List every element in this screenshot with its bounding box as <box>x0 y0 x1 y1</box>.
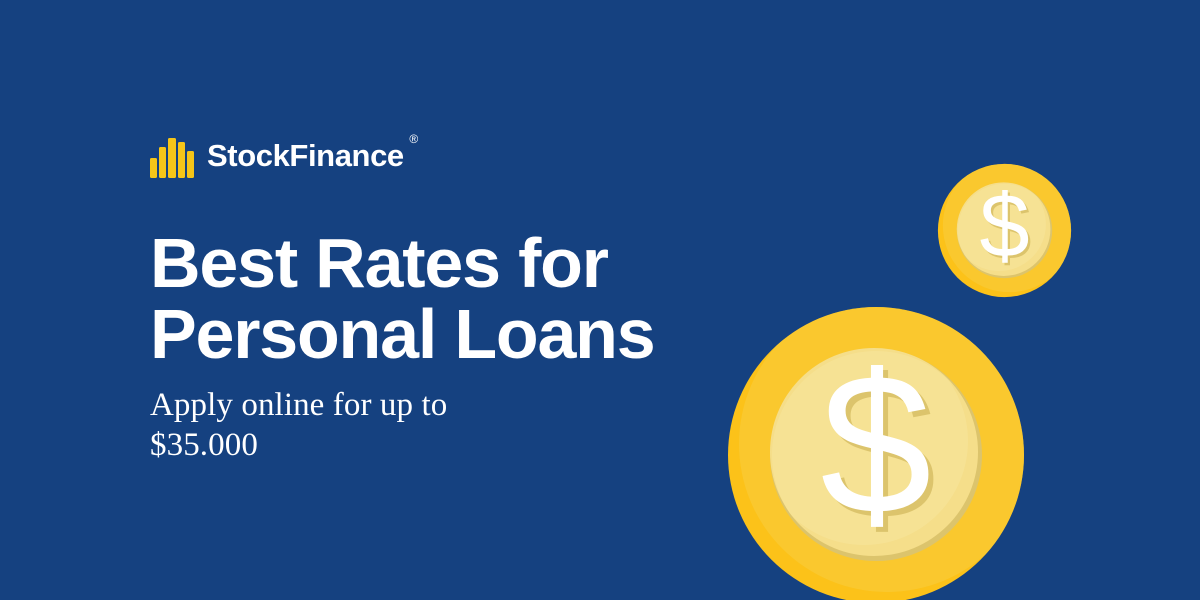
bar-chart-icon <box>150 130 196 178</box>
promo-banner: StockFinance ® Best Rates for Personal L… <box>0 0 1200 600</box>
brand-name-text: StockFinance <box>207 138 404 173</box>
dollar-sign: $ <box>820 333 931 556</box>
registered-trademark-icon: ® <box>409 133 417 145</box>
dollar-coin-icon-small: $ $ <box>937 163 1072 298</box>
brand-name: StockFinance ® <box>207 137 404 171</box>
brand-logo[interactable]: StockFinance ® <box>150 128 404 180</box>
dollar-coin-icon-large: $ $ <box>726 305 1026 600</box>
page-title: Best Rates for Personal Loans <box>150 228 750 371</box>
page-subtitle: Apply online for up to $35.000 <box>150 385 570 466</box>
dollar-sign: $ <box>979 177 1029 277</box>
